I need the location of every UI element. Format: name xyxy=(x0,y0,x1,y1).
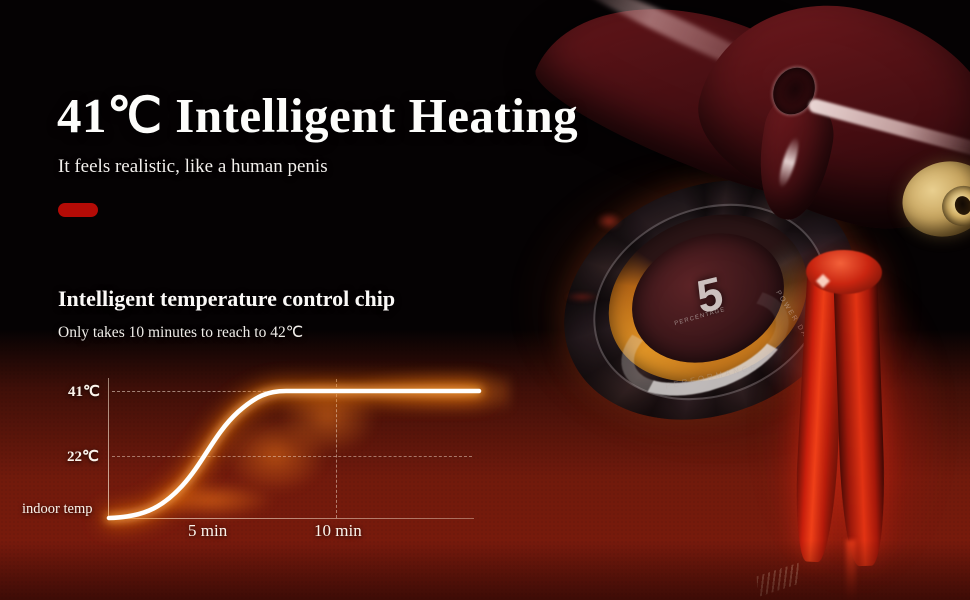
curve-bloom xyxy=(90,360,510,540)
promo-banner: 5 PERCENTAGE POWER DATA PERFORMANCE 41℃ … xyxy=(0,0,970,600)
gridline-22c xyxy=(112,456,472,457)
chart-x-axis xyxy=(108,518,474,519)
red-spark-two xyxy=(565,292,599,302)
y-tick-label-41c: 41℃ xyxy=(68,382,100,401)
temperature-chart: 41℃ 22℃ indoor temp 5 min 10 min xyxy=(0,360,520,560)
gridline-41c xyxy=(112,391,472,392)
section-subtitle: Only takes 10 minutes to reach to 42℃ xyxy=(58,323,303,342)
page-subtitle: It feels realistic, like a human penis xyxy=(58,156,328,178)
accent-bar xyxy=(58,203,98,217)
chart-y-axis xyxy=(108,378,109,519)
section-title: Intelligent temperature control chip xyxy=(58,286,395,312)
gridline-10min xyxy=(336,379,337,518)
page-title: 41℃ Intelligent Heating xyxy=(57,90,578,141)
x-tick-label-5min: 5 min xyxy=(188,521,227,541)
y-tick-label-indoor-temp: indoor temp xyxy=(22,501,92,518)
y-tick-label-22c: 22℃ xyxy=(67,447,99,466)
x-tick-label-10min: 10 min xyxy=(314,521,362,541)
red-spark-one xyxy=(596,212,622,230)
